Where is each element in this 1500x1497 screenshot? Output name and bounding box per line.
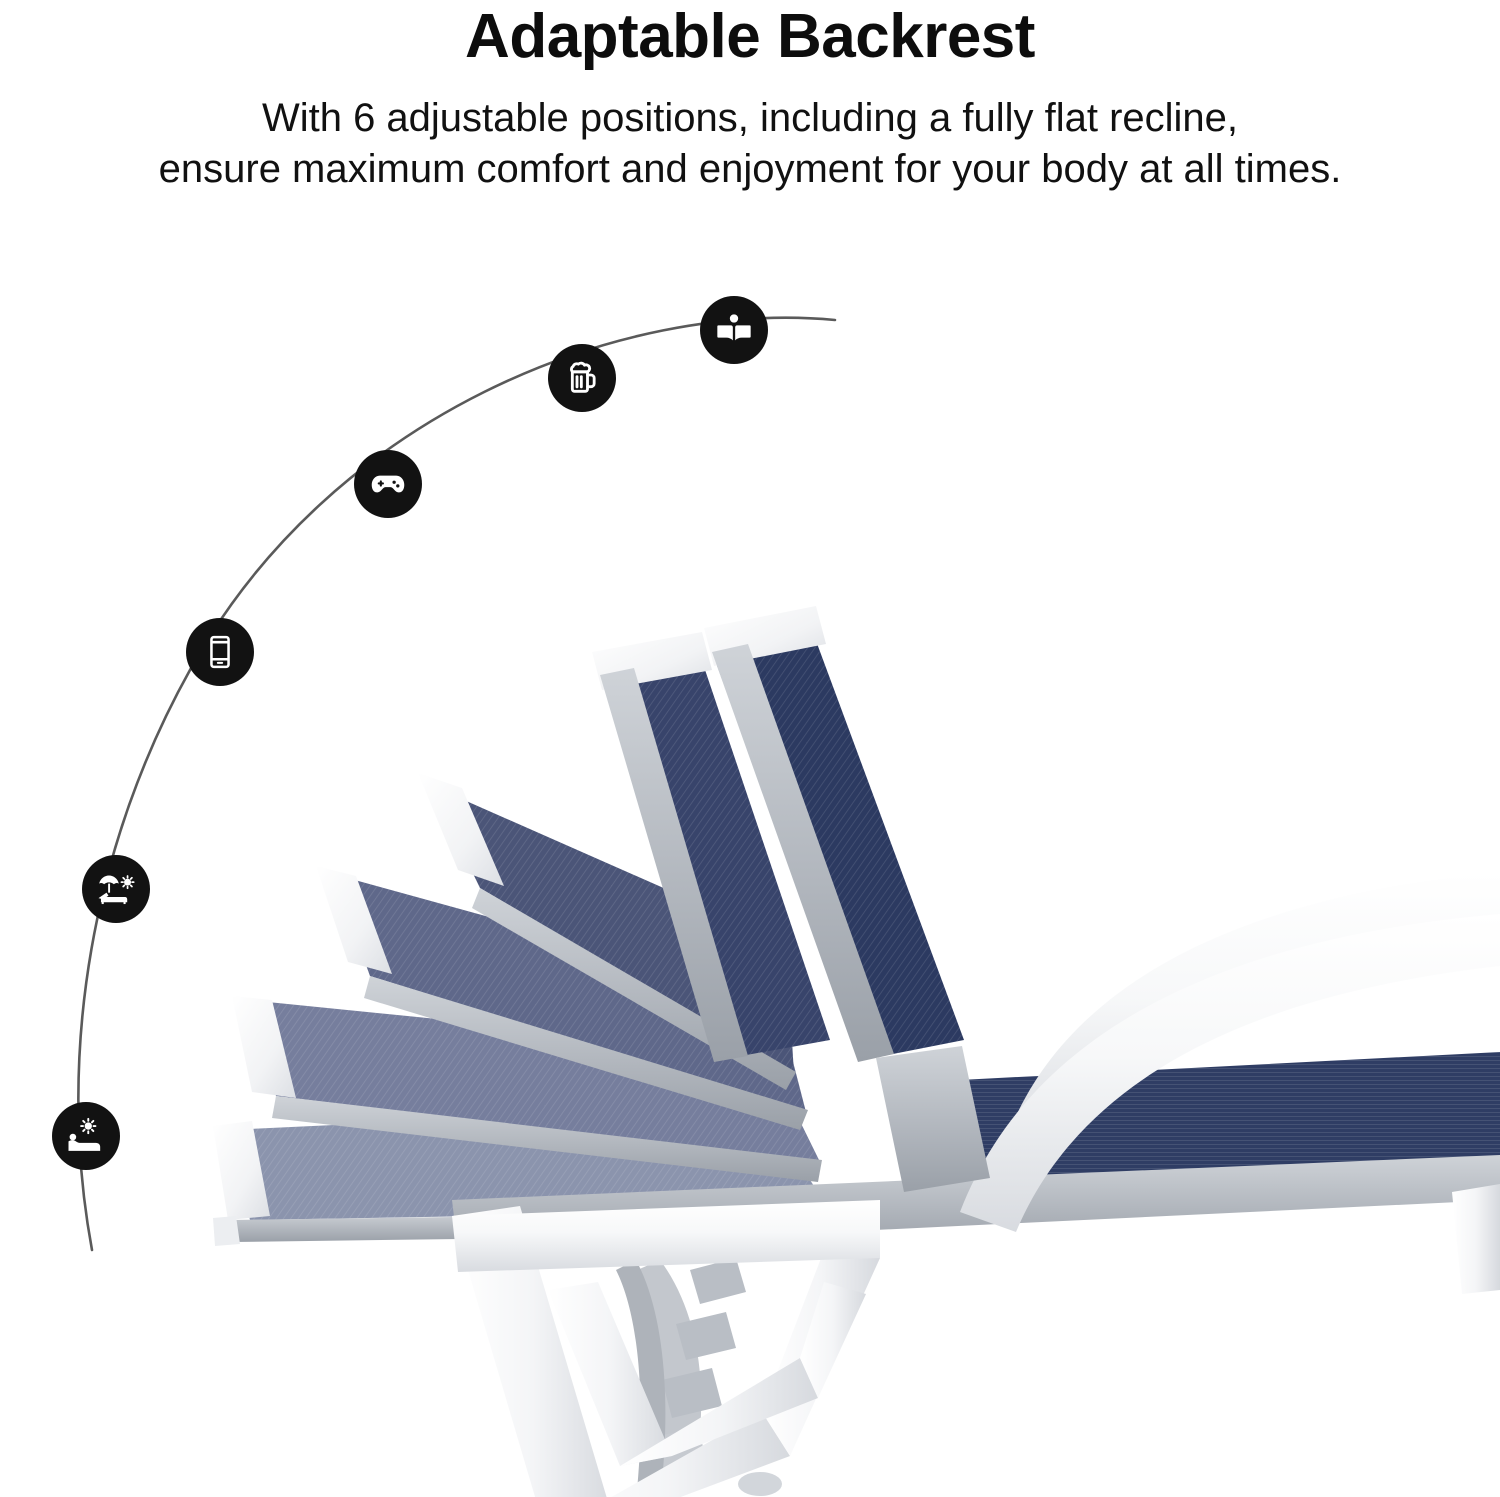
badge-sunbathing — [82, 855, 150, 923]
gamepad-icon — [367, 463, 409, 505]
badge-reading — [700, 296, 768, 364]
chaise-lounge-illustration — [0, 200, 1500, 1497]
book-reader-icon — [714, 310, 754, 350]
product-feature-infographic: Adaptable Backrest With 6 adjustable pos… — [0, 0, 1500, 1497]
sun-lounger-parasol-icon — [95, 868, 137, 910]
rear-leg — [1452, 1184, 1500, 1294]
subtitle-line-2: ensure maximum comfort and enjoyment for… — [0, 144, 1500, 195]
lounge-chair-svg — [0, 200, 1500, 1497]
badge-napping — [52, 1102, 120, 1170]
badge-phone — [186, 618, 254, 686]
smartphone-icon — [201, 633, 239, 671]
page-subtitle: With 6 adjustable positions, including a… — [0, 69, 1500, 195]
header-block: Adaptable Backrest With 6 adjustable pos… — [0, 0, 1500, 195]
person-lying-sun-icon — [65, 1115, 107, 1157]
badge-drinking — [548, 344, 616, 412]
backrest-hinge-rail — [876, 1046, 990, 1192]
badge-gaming — [354, 450, 422, 518]
page-title: Adaptable Backrest — [0, 0, 1500, 69]
beer-mug-icon — [562, 358, 602, 398]
subtitle-line-1: With 6 adjustable positions, including a… — [0, 93, 1500, 144]
